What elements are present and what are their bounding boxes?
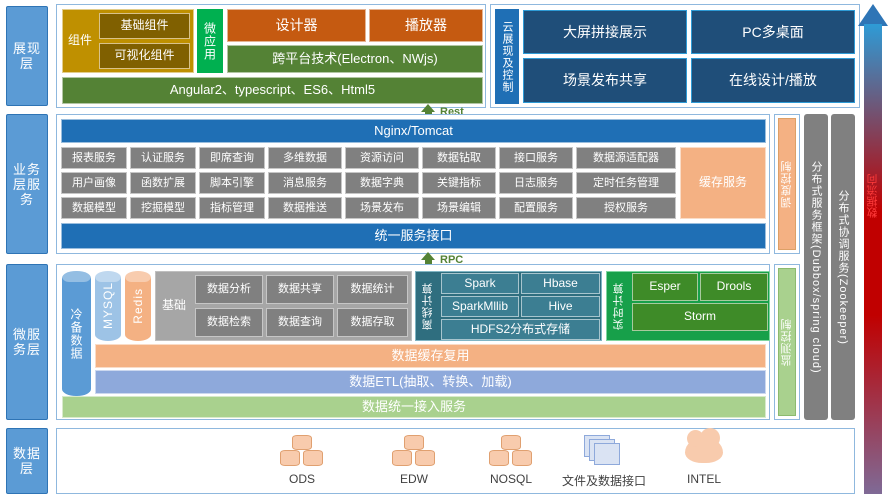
distributed-service-framework-rail[interactable]: 分布式服务框架(Dubbox/spring cloud) (804, 114, 828, 420)
data-source-ods[interactable]: ODS (252, 435, 352, 486)
cloud-item-pc-desktop[interactable]: PC多桌面 (691, 10, 855, 54)
data-source-file-interface[interactable]: 文件及数据接口 (554, 435, 654, 489)
offline-item-hbase[interactable]: Hbase (521, 273, 600, 294)
offline-item-sparkmllib[interactable]: SparkMllib (441, 296, 519, 317)
service-cell[interactable]: 挖掘模型 (130, 197, 196, 219)
service-cell[interactable]: 资源访问 (345, 147, 419, 169)
component-visual[interactable]: 可视化组件 (99, 43, 190, 69)
service-cell[interactable]: 指标管理 (199, 197, 265, 219)
player-block[interactable]: 播放器 (369, 9, 483, 42)
data-source-edw[interactable]: EDW (364, 435, 464, 486)
service-cell[interactable]: 函数扩展 (130, 172, 196, 194)
layer-label: 展现层 (12, 41, 42, 71)
service-cell[interactable]: 数据字典 (345, 172, 419, 194)
database-stack-icon (252, 435, 352, 469)
service-cell[interactable]: 多维数据 (268, 147, 342, 169)
sidebar-item-business-layer[interactable]: 业务层服务 (6, 114, 48, 254)
service-cell[interactable]: 接口服务 (499, 147, 573, 169)
data-source-nosql[interactable]: NOSQL (461, 435, 561, 486)
service-cell[interactable]: 认证服务 (130, 147, 196, 169)
cloud-display-panel: 云展现及控制 大屏拼接展示 PC多桌面 场景发布共享 在线设计/播放 (490, 4, 860, 108)
data-cache-reuse-bar[interactable]: 数据缓存复用 (95, 344, 766, 368)
service-cell[interactable]: 配置服务 (499, 197, 573, 219)
realtime-item-storm[interactable]: Storm (632, 303, 768, 331)
database-stack-icon (364, 435, 464, 469)
monitor-control-rail[interactable]: 监测控制 (778, 268, 796, 416)
frontend-stack-block[interactable]: Angular2、typescript、ES6、Html5 (62, 77, 483, 104)
cloud-display-side-label: 云展现及控制 (495, 9, 519, 104)
layer-label: 数据层 (12, 446, 42, 476)
data-layer-panel: ODS EDW NOSQL 文件及数据接口 INTEL (56, 428, 855, 494)
realtime-compute-side-label: 实时计算 (608, 273, 630, 339)
dispatch-control-rail[interactable]: 调度控制 (778, 118, 796, 250)
cloud-item-online-design[interactable]: 在线设计/播放 (691, 58, 855, 103)
documents-icon (554, 435, 654, 469)
presentation-layer-panel: 组件 基础组件 可视化组件 微应用 设计器 播放器 跨平台技术(Electron… (56, 4, 486, 108)
layer-label: 微服务层 (12, 327, 42, 357)
components-group-label: 组件 (63, 34, 92, 48)
micro-app-block[interactable]: 微应用 (197, 9, 223, 73)
offline-compute-side-label: 离线计算 (417, 273, 439, 339)
service-cell[interactable]: 用户画像 (61, 172, 127, 194)
unified-service-api[interactable]: 统一服务接口 (61, 223, 766, 249)
designer-block[interactable]: 设计器 (227, 9, 366, 42)
realtime-item-drools[interactable]: Drools (700, 273, 768, 301)
offline-item-hdfs[interactable]: HDFS2分布式存储 (441, 319, 600, 340)
service-cell[interactable]: 场景发布 (345, 197, 419, 219)
business-layer-panel: Nginx/Tomcat 报表服务 认证服务 即席查询 多维数据 资源访问 数据… (56, 114, 770, 254)
basic-cell[interactable]: 数据查询 (266, 308, 334, 337)
mysql-store[interactable]: MYSQL (95, 271, 121, 341)
service-cell[interactable]: 关键指标 (422, 172, 496, 194)
service-cell[interactable]: 消息服务 (268, 172, 342, 194)
basic-cell[interactable]: 数据存取 (337, 308, 408, 337)
service-cell[interactable]: 日志服务 (499, 172, 573, 194)
gateway-nginx-tomcat[interactable]: Nginx/Tomcat (61, 119, 766, 143)
basic-group-label: 基础 (156, 299, 186, 313)
offline-item-spark[interactable]: Spark (441, 273, 519, 294)
data-flow-arrow-label: 数据流向 (865, 174, 881, 218)
cache-service-block[interactable]: 缓存服务 (680, 147, 766, 219)
service-cell[interactable]: 报表服务 (61, 147, 127, 169)
data-etl-bar[interactable]: 数据ETL(抽取、转换、加载) (95, 370, 766, 394)
data-source-intel[interactable]: INTEL (654, 435, 754, 486)
service-cell[interactable]: 脚本引擎 (199, 172, 265, 194)
dispatch-control-rail-wrapper: 调度控制 (774, 114, 800, 254)
service-cell[interactable]: 数据源适配器 (576, 147, 676, 169)
cold-data-store[interactable]: 冷备数据 (62, 271, 91, 396)
architecture-diagram: 展现层 业务层服务 微服务层 数据层 组件 基础组件 可视化组件 微应用 设计器… (0, 0, 892, 500)
layer-label: 业务层服务 (12, 162, 42, 207)
monitor-control-rail-wrapper: 监测控制 (774, 264, 800, 420)
distributed-coordination-rail[interactable]: 分布式协调服务(Zookeeper) (831, 114, 855, 420)
service-cell[interactable]: 场景编辑 (422, 197, 496, 219)
service-cell[interactable]: 授权服务 (576, 197, 676, 219)
cloud-item-large-screen[interactable]: 大屏拼接展示 (523, 10, 687, 54)
service-cell[interactable]: 即席查询 (199, 147, 265, 169)
basic-cell[interactable]: 数据分析 (195, 275, 263, 304)
sidebar-item-presentation-layer[interactable]: 展现层 (6, 6, 48, 106)
data-unified-access-bar[interactable]: 数据统一接入服务 (62, 396, 766, 418)
cross-platform-block[interactable]: 跨平台技术(Electron、NWjs) (227, 45, 483, 73)
data-flow-arrow-icon: 数据流向 (858, 4, 888, 494)
basic-cell[interactable]: 数据共享 (266, 275, 334, 304)
basic-cell[interactable]: 数据检索 (195, 308, 263, 337)
service-cell[interactable]: 数据推送 (268, 197, 342, 219)
component-basic[interactable]: 基础组件 (99, 13, 190, 39)
microservice-layer-panel: 冷备数据 MYSQL Redis 基础 数据分析 数据共享 数据统计 数据检索 … (56, 264, 770, 420)
sidebar-item-microservice-layer[interactable]: 微服务层 (6, 264, 48, 420)
offline-item-hive[interactable]: Hive (521, 296, 600, 317)
redis-store[interactable]: Redis (125, 271, 151, 341)
cloud-icon (654, 435, 754, 469)
service-cell[interactable]: 数据模型 (61, 197, 127, 219)
database-stack-icon (461, 435, 561, 469)
basic-cell[interactable]: 数据统计 (337, 275, 408, 304)
micro-app-label: 微应用 (202, 22, 219, 61)
service-cell[interactable]: 数据钻取 (422, 147, 496, 169)
realtime-item-esper[interactable]: Esper (632, 273, 698, 301)
cloud-item-scene-publish[interactable]: 场景发布共享 (523, 58, 687, 103)
service-cell[interactable]: 定时任务管理 (576, 172, 676, 194)
sidebar-item-data-layer[interactable]: 数据层 (6, 428, 48, 494)
